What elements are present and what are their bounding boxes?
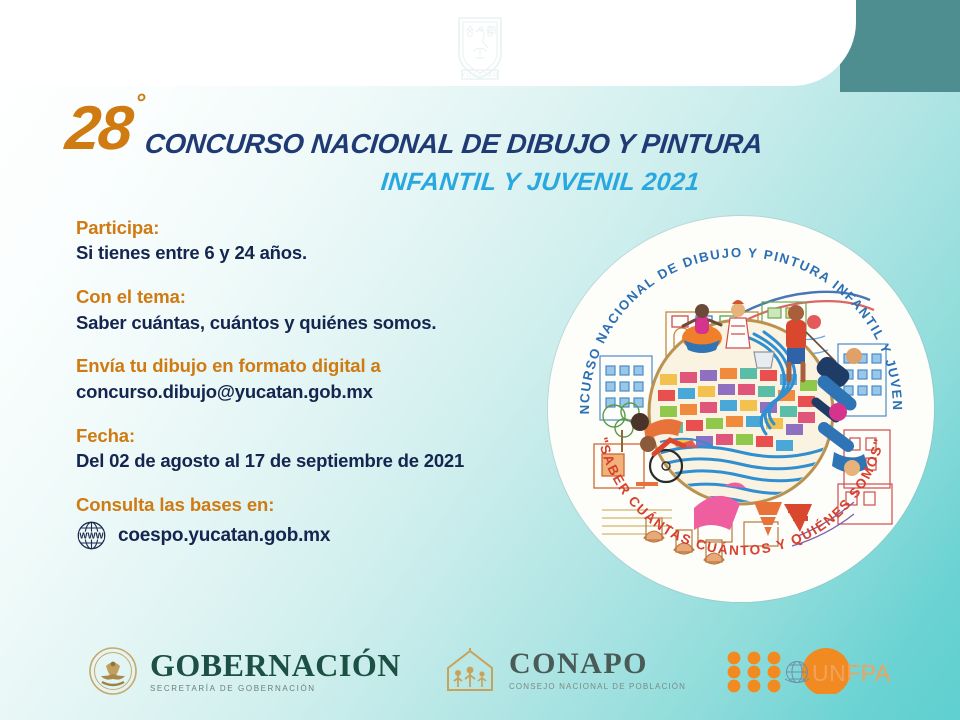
unfpa-logo: UNFPA bbox=[722, 648, 898, 694]
gobernacion-sub: SECRETARÍA DE GOBERNACIÓN bbox=[150, 685, 401, 693]
info-value: Si tienes entre 6 y 24 años. bbox=[76, 241, 546, 266]
contest-title-sub-text: INFANTIL Y JUVENIL 2021 bbox=[379, 168, 701, 197]
poster: YUCATAN Juntos transformemos Yucatán GOB… bbox=[0, 0, 960, 720]
artwork-illustration: 28° CONCURSO NACIONAL DE DIBUJO Y PINTUR… bbox=[548, 216, 934, 602]
edition-number: 28° bbox=[63, 104, 141, 155]
info-value: Del 02 de agosto al 17 de septiembre de … bbox=[76, 449, 546, 474]
contest-email[interactable]: concurso.dibujo@yucatan.gob.mx bbox=[76, 380, 546, 405]
conapo-sub: CONSEJO NACIONAL DE POBLACIÓN bbox=[509, 683, 686, 691]
gobernacion-name: GOBERNACIÓN bbox=[150, 649, 401, 681]
unfpa-name: UNFPA bbox=[812, 660, 891, 686]
info-value: Saber cuántas, cuántos y quiénes somos. bbox=[76, 311, 546, 336]
info-block: Con el tema: Saber cuántas, cuántos y qu… bbox=[76, 285, 546, 335]
conapo-house-icon bbox=[442, 646, 498, 694]
conapo-logo: CONAPO CONSEJO NACIONAL DE POBLACIÓN bbox=[442, 646, 686, 694]
bases-url[interactable]: coespo.yucatan.gob.mx bbox=[118, 525, 330, 547]
conapo-name: CONAPO bbox=[509, 649, 686, 679]
body-copy: Participa: Si tienes entre 6 y 24 años. … bbox=[76, 216, 546, 551]
mexico-eagle-seal-icon bbox=[88, 646, 138, 696]
gobernacion-wordmark: GOBERNACIÓN SECRETARÍA DE GOBERNACIÓN bbox=[150, 649, 401, 693]
degree-symbol: ° bbox=[133, 89, 144, 117]
info-block: Fecha: Del 02 de agosto al 17 de septiem… bbox=[76, 424, 546, 474]
header-bar bbox=[0, 0, 856, 86]
contest-title-main: CONCURSO NACIONAL DE DIBUJO Y PINTURA bbox=[143, 128, 764, 160]
contest-artwork: 28° CONCURSO NACIONAL DE DIBUJO Y PINTUR… bbox=[548, 216, 934, 602]
edition-number-value: 28 bbox=[62, 94, 134, 163]
info-block: Envía tu dibujo en formato digital a con… bbox=[76, 354, 546, 404]
yucatan-coat-of-arms-icon: YUCATAN bbox=[451, 12, 509, 82]
bases-block: Consulta las bases en: WWW coespo.yucata… bbox=[76, 493, 546, 551]
crest-label: YUCATAN bbox=[461, 72, 499, 79]
bases-label: Consulta las bases en: bbox=[76, 493, 546, 517]
footer-logos: GOBERNACIÓN SECRETARÍA DE GOBERNACIÓN CO… bbox=[0, 634, 960, 706]
title-row: 28° CONCURSO NACIONAL DE DIBUJO Y PINTUR… bbox=[66, 104, 906, 160]
info-label: Fecha: bbox=[76, 424, 546, 448]
teal-corner-block bbox=[840, 0, 960, 92]
info-label: Con el tema: bbox=[76, 285, 546, 309]
unfpa-mark-icon: UNFPA bbox=[722, 648, 898, 694]
info-label: Envía tu dibujo en formato digital a bbox=[76, 354, 546, 378]
www-globe-icon: WWW bbox=[76, 520, 107, 551]
conapo-wordmark: CONAPO CONSEJO NACIONAL DE POBLACIÓN bbox=[509, 649, 686, 691]
info-label: Participa: bbox=[76, 216, 546, 240]
www-label: WWW bbox=[79, 531, 104, 541]
bases-url-row[interactable]: WWW coespo.yucatan.gob.mx bbox=[76, 520, 546, 551]
info-block: Participa: Si tienes entre 6 y 24 años. bbox=[76, 216, 546, 266]
gobernacion-logo: GOBERNACIÓN SECRETARÍA DE GOBERNACIÓN bbox=[88, 646, 401, 696]
contest-title-sub: INFANTIL Y JUVENIL 2021 bbox=[0, 168, 960, 197]
